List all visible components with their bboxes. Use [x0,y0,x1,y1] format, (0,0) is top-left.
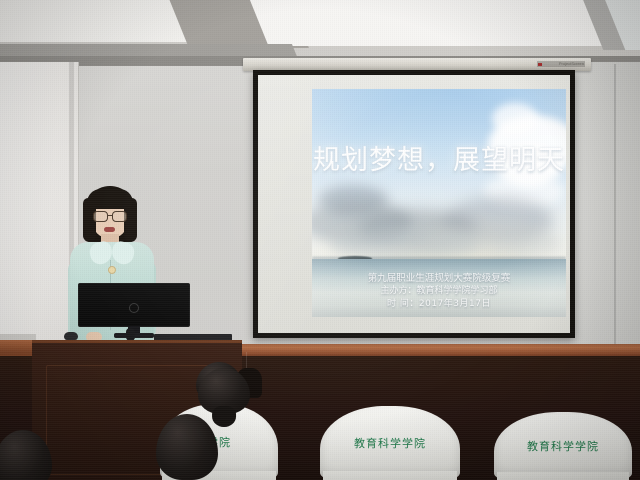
mouse-icon [64,332,78,340]
audience-head [0,430,52,480]
cloud-shape [422,225,562,261]
chair-cover-text: 教育科学学院 [320,435,460,451]
audience-head [156,414,218,480]
presentation-slide: 规划梦想，展望明天 第九届职业生涯规划大赛院级复赛 主办方：教育科学学院学习部 … [312,89,566,317]
glasses-icon [93,211,127,220]
presenter-mouth [104,227,115,232]
slide-subtitle-block: 第九届职业生涯规划大赛院级复赛 主办方：教育科学学院学习部 时 间：2017年3… [312,272,566,311]
slide-subtitle-line-3: 时 间：2017年3月17日 [312,298,566,311]
slide-title: 规划梦想，展望明天 [312,147,566,174]
housing-brand-label: ProjectScreen [537,61,585,67]
screen-surface: 规划梦想，展望明天 第九届职业生涯规划大赛院级复赛 主办方：教育科学学院学习部 … [258,75,570,333]
audience-hair [156,414,218,480]
chair-cover: 教育科学学院 [494,412,632,480]
dell-monitor [78,283,190,335]
chair-with-cover: 教育科学学院 [494,412,632,480]
dell-logo-icon [129,303,139,313]
right-wall-panel [570,62,640,354]
lecture-hall-photo: ProjectScreen 规划梦想，展望明天 [0,0,640,480]
chair-with-cover: 教育科学学院 [320,406,460,480]
ceiling [0,0,640,62]
chair-cover-skirt [497,472,629,480]
audience-head [198,368,250,414]
presenter-bangs [87,189,133,209]
ceiling-panel-center [247,0,628,46]
glasses-lens-left [93,211,108,222]
chair-cover-skirt [323,471,457,480]
slide-subtitle-line-1: 第九届职业生涯规划大赛院级复赛 [312,272,566,285]
projection-screen: 规划梦想，展望明天 第九届职业生涯规划大赛院级复赛 主办方：教育科学学院学习部 … [253,70,575,338]
slide-subtitle-line-2: 主办方：教育科学学院学习部 [312,285,566,298]
audience-ponytail [212,406,236,427]
monitor-screen [78,283,190,327]
glasses-lens-right [112,211,127,222]
chair-cover: 教育科学学院 [320,406,460,480]
chair-cover-text: 教育科学学院 [494,438,632,454]
audience-hair [0,430,52,480]
presenter-coat-button [108,266,116,274]
right-wall-seam [614,64,616,350]
